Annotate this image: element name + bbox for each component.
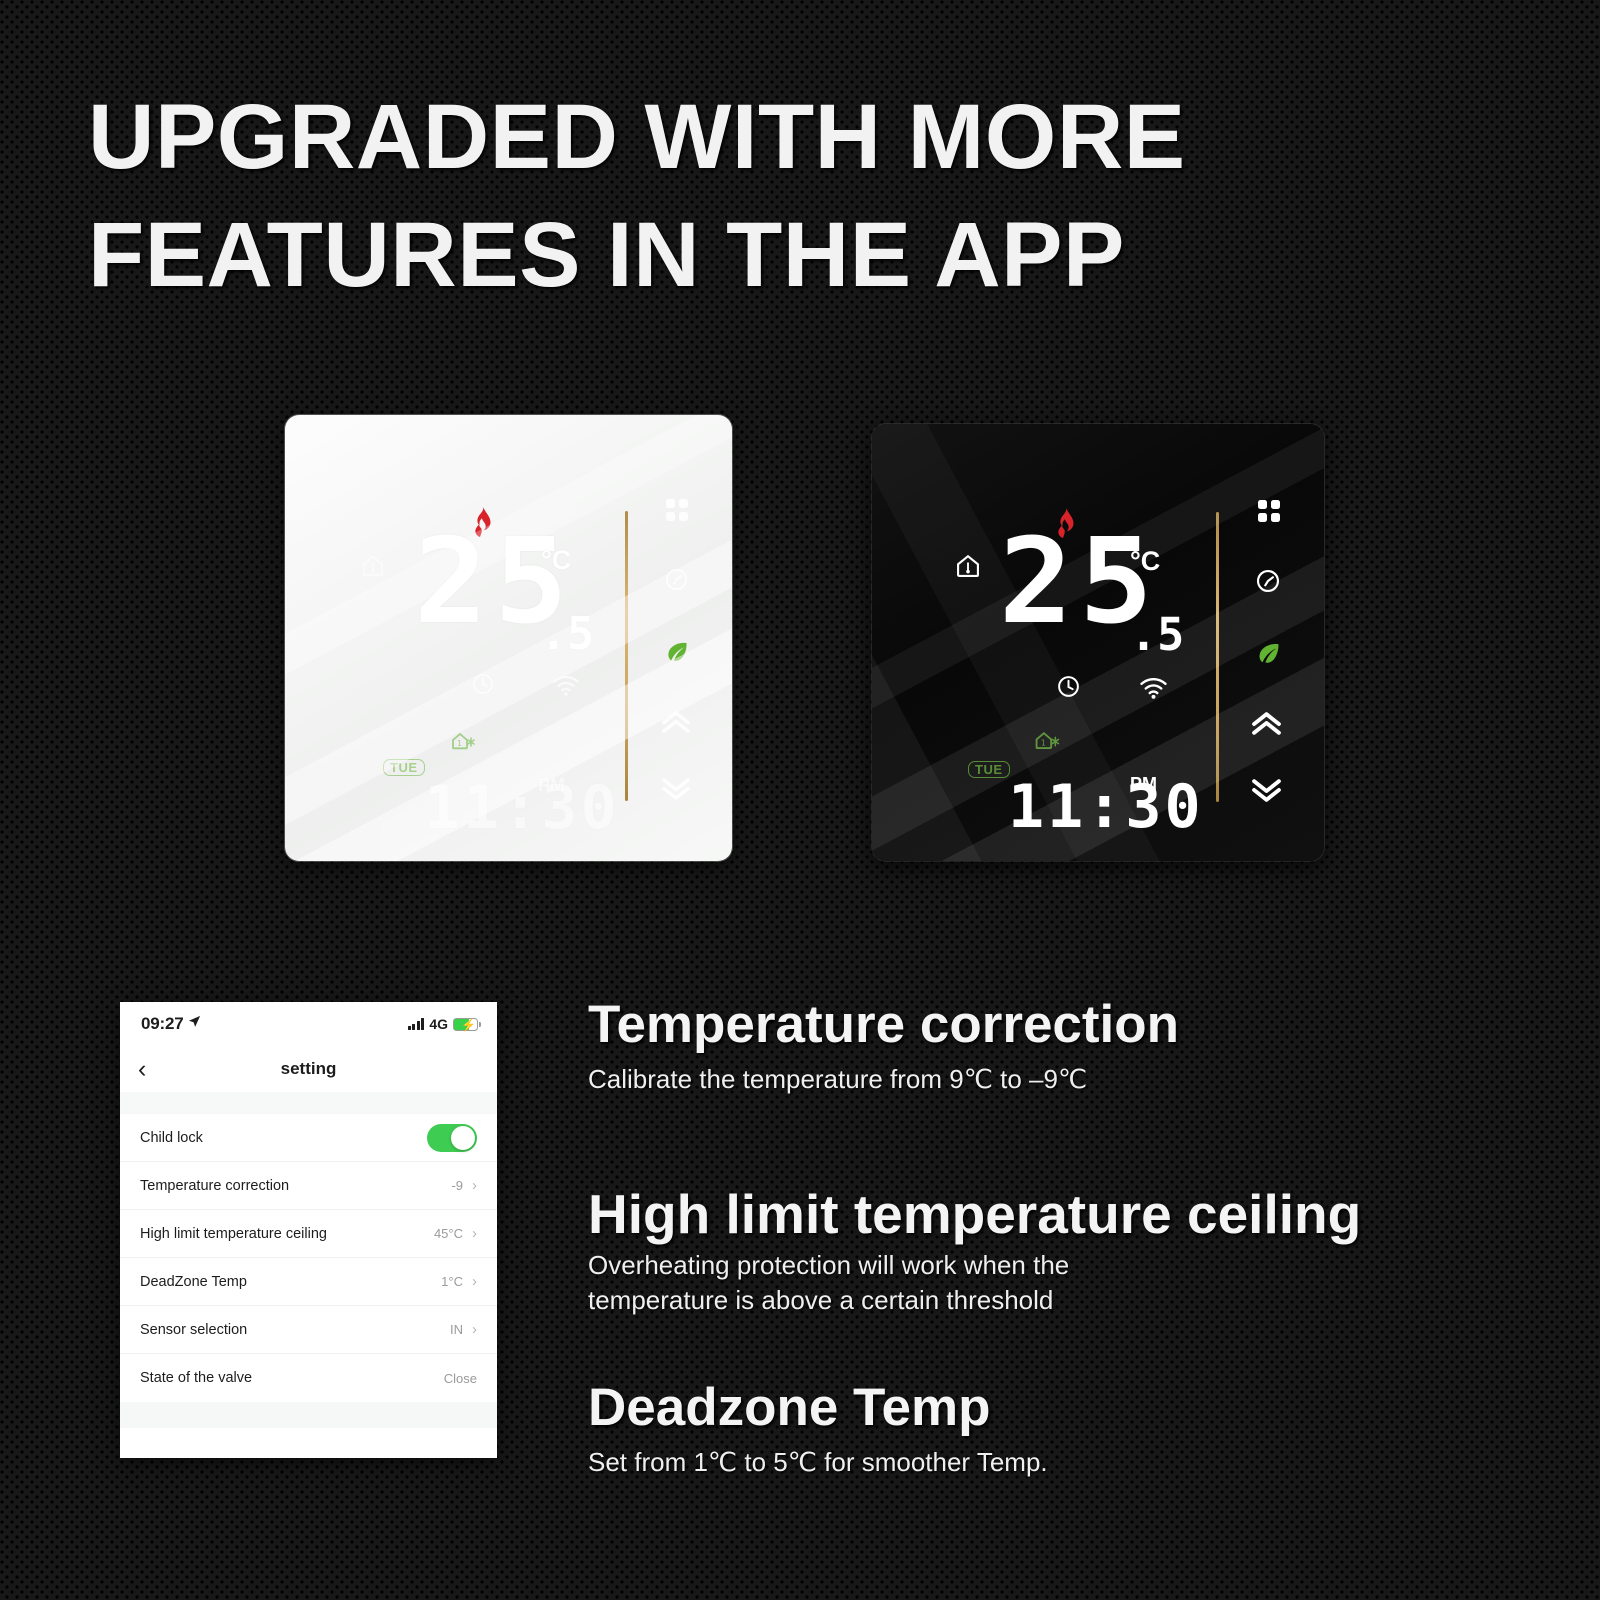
list-item-child-lock[interactable]: Child lock — [120, 1114, 497, 1162]
back-button[interactable]: ‹ — [138, 1057, 146, 1082]
row-label: DeadZone Temp — [140, 1274, 441, 1290]
row-label: State of the valve — [140, 1370, 444, 1386]
svg-text:1: 1 — [1041, 738, 1046, 748]
battery-charging-icon: ⚡ — [453, 1018, 478, 1031]
black-thermostat-screen: 25 °C .5 1 TUE 11:30 PM — [872, 424, 1324, 861]
feature-subtitle: Set from 1℃ to 5℃ for smoother Temp. — [588, 1445, 1048, 1480]
phone-nav-bar: ‹ setting — [120, 1046, 497, 1092]
feature-subtitle-line-1: Overheating protection will work when th… — [588, 1248, 1361, 1283]
feature-deadzone-temp: Deadzone Temp Set from 1℃ to 5℃ for smoo… — [588, 1378, 1048, 1480]
house-thermometer-icon — [360, 553, 386, 584]
chevron-double-up-icon[interactable] — [661, 710, 691, 739]
grid-menu-icon[interactable] — [666, 499, 688, 526]
gold-divider — [625, 511, 628, 801]
phone-status-bar: 09:27 4G ⚡ — [120, 1002, 497, 1046]
feature-title: Deadzone Temp — [588, 1378, 1048, 1438]
headline-line-2: FEATURES IN THE APP — [88, 196, 1338, 314]
grid-menu-icon[interactable] — [1258, 500, 1280, 527]
house-frost-icon: 1 — [449, 729, 477, 758]
feature-high-limit-temperature-ceiling: High limit temperature ceiling Overheati… — [588, 1184, 1361, 1318]
black-clock-meridiem: PM — [1130, 774, 1157, 795]
feature-title: Temperature correction — [588, 995, 1179, 1055]
white-temperature-unit: °C — [541, 545, 571, 576]
day-badge-tue: TUE — [968, 761, 1010, 778]
gold-divider — [1216, 512, 1219, 802]
black-clock-time: 11:30 — [1008, 772, 1204, 842]
white-temperature-decimal: .5 — [540, 607, 594, 660]
feature-title: High limit temperature ceiling — [588, 1184, 1361, 1244]
white-thermostat-screen: 25 °C .5 1 TUE 11:30 PM — [285, 415, 732, 861]
wifi-icon — [553, 676, 579, 701]
row-value: 45°C — [434, 1226, 463, 1241]
row-value: Close — [444, 1371, 477, 1386]
list-item-high-limit-temperature-ceiling[interactable]: High limit temperature ceiling 45°C › — [120, 1210, 497, 1258]
nav-title: setting — [120, 1059, 497, 1079]
chevron-right-icon: › — [472, 1322, 477, 1337]
black-thermostat: 25 °C .5 1 TUE 11:30 PM — [872, 424, 1324, 861]
svg-text:1: 1 — [457, 739, 462, 748]
chevron-double-down-icon[interactable] — [661, 777, 691, 806]
row-value: IN — [450, 1322, 463, 1337]
signal-bars-icon — [408, 1018, 425, 1030]
feature-subtitle-line-2: temperature is above a certain threshold — [588, 1283, 1361, 1318]
black-temperature-decimal: .5 — [1130, 608, 1184, 661]
row-label: Child lock — [140, 1130, 427, 1146]
list-item-deadzone-temp[interactable]: DeadZone Temp 1°C › — [120, 1258, 497, 1306]
headline-line-1: UPGRADED WITH MORE — [88, 78, 1338, 196]
chevron-right-icon: › — [472, 1178, 477, 1193]
feature-temperature-correction: Temperature correction Calibrate the tem… — [588, 995, 1179, 1097]
house-frost-icon: 1 — [1032, 728, 1062, 758]
location-arrow-icon — [188, 1015, 201, 1033]
section-gap — [120, 1092, 497, 1114]
row-label: High limit temperature ceiling — [140, 1226, 434, 1242]
phone-screenshot: 09:27 4G ⚡ ‹ setting Child lock Temperat… — [120, 1002, 497, 1458]
leaf-eco-icon[interactable] — [664, 639, 690, 670]
day-badge-tue: TUE — [383, 759, 425, 776]
wifi-icon — [1140, 678, 1167, 704]
chevron-double-down-icon[interactable] — [1251, 778, 1282, 808]
chevron-double-up-icon[interactable] — [1251, 711, 1282, 741]
timer-clock-icon[interactable] — [664, 567, 689, 597]
list-item-sensor-selection[interactable]: Sensor selection IN › — [120, 1306, 497, 1354]
network-type: 4G — [429, 1016, 448, 1032]
row-value: -9 — [451, 1178, 463, 1193]
list-item-state-of-the-valve[interactable]: State of the valve Close — [120, 1354, 497, 1402]
phone-footer — [120, 1402, 497, 1428]
row-label: Temperature correction — [140, 1178, 451, 1194]
page-title: UPGRADED WITH MORE FEATURES IN THE APP — [88, 78, 1338, 314]
row-label: Sensor selection — [140, 1322, 450, 1338]
list-item-temperature-correction[interactable]: Temperature correction -9 › — [120, 1162, 497, 1210]
leaf-eco-icon[interactable] — [1255, 640, 1282, 672]
feature-subtitle: Calibrate the temperature from 9℃ to –9℃ — [588, 1062, 1179, 1097]
status-time: 09:27 — [141, 1014, 183, 1034]
timer-clock-icon[interactable] — [1255, 568, 1281, 599]
clock-icon — [471, 672, 495, 701]
chevron-right-icon: › — [472, 1226, 477, 1241]
white-thermostat: 25 °C .5 1 TUE 11:30 PM — [285, 415, 732, 861]
chevron-right-icon: › — [472, 1274, 477, 1289]
black-temperature-unit: °C — [1130, 546, 1160, 577]
white-clock-time: 11:30 — [424, 773, 620, 843]
child-lock-toggle[interactable] — [427, 1124, 477, 1152]
clock-icon — [1056, 674, 1081, 704]
house-thermometer-icon — [954, 552, 982, 585]
white-clock-meridiem: PM — [538, 775, 565, 796]
row-value: 1°C — [441, 1274, 463, 1289]
